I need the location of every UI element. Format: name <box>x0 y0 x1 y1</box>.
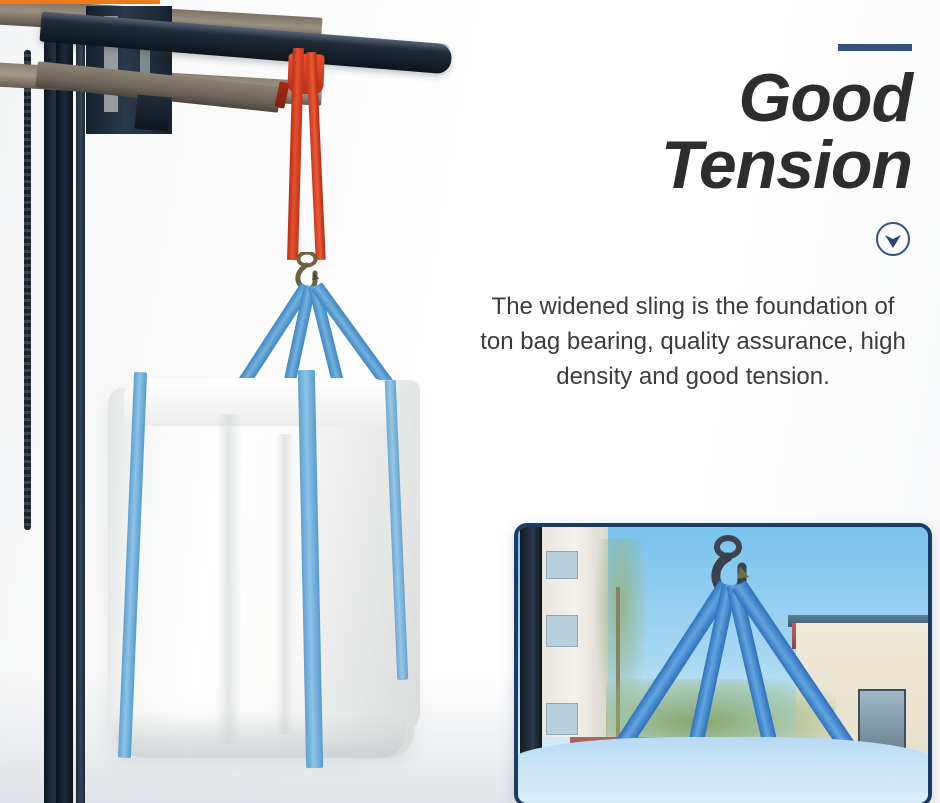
bag-crease-a <box>216 414 242 744</box>
forklift-mast-inner <box>56 0 73 803</box>
inset-window-2 <box>546 615 578 647</box>
lift-chain <box>24 50 31 530</box>
inset-window-3 <box>546 703 578 735</box>
bag-crease-b <box>276 434 294 734</box>
bag-top-fold <box>124 378 394 426</box>
inset-photo[interactable] <box>514 523 932 803</box>
product-feature-banner: Good Tension The widened sling is the fo… <box>0 0 940 803</box>
accent-rule <box>838 44 912 51</box>
chevron-down-circle-icon[interactable] <box>874 220 912 258</box>
top-accent-stripe <box>0 0 160 4</box>
bag-side-face <box>310 380 420 740</box>
bag-bottom-shadow <box>114 712 406 758</box>
forklift-mast-rail <box>76 0 85 803</box>
inset-window-1 <box>546 551 578 579</box>
text-column: Good Tension The widened sling is the fo… <box>382 36 912 394</box>
headline-line-2: Tension <box>382 132 912 199</box>
description-text: The widened sling is the foundation of t… <box>474 289 912 394</box>
inset-bag-top <box>514 737 932 803</box>
page-title: Good Tension <box>382 65 912 198</box>
headline-line-1: Good <box>382 65 912 132</box>
forklift-mast-outer <box>44 0 70 803</box>
white-bulk-bag <box>96 374 426 766</box>
fork-bracket <box>135 95 172 132</box>
inset-dark-post <box>520 527 542 782</box>
